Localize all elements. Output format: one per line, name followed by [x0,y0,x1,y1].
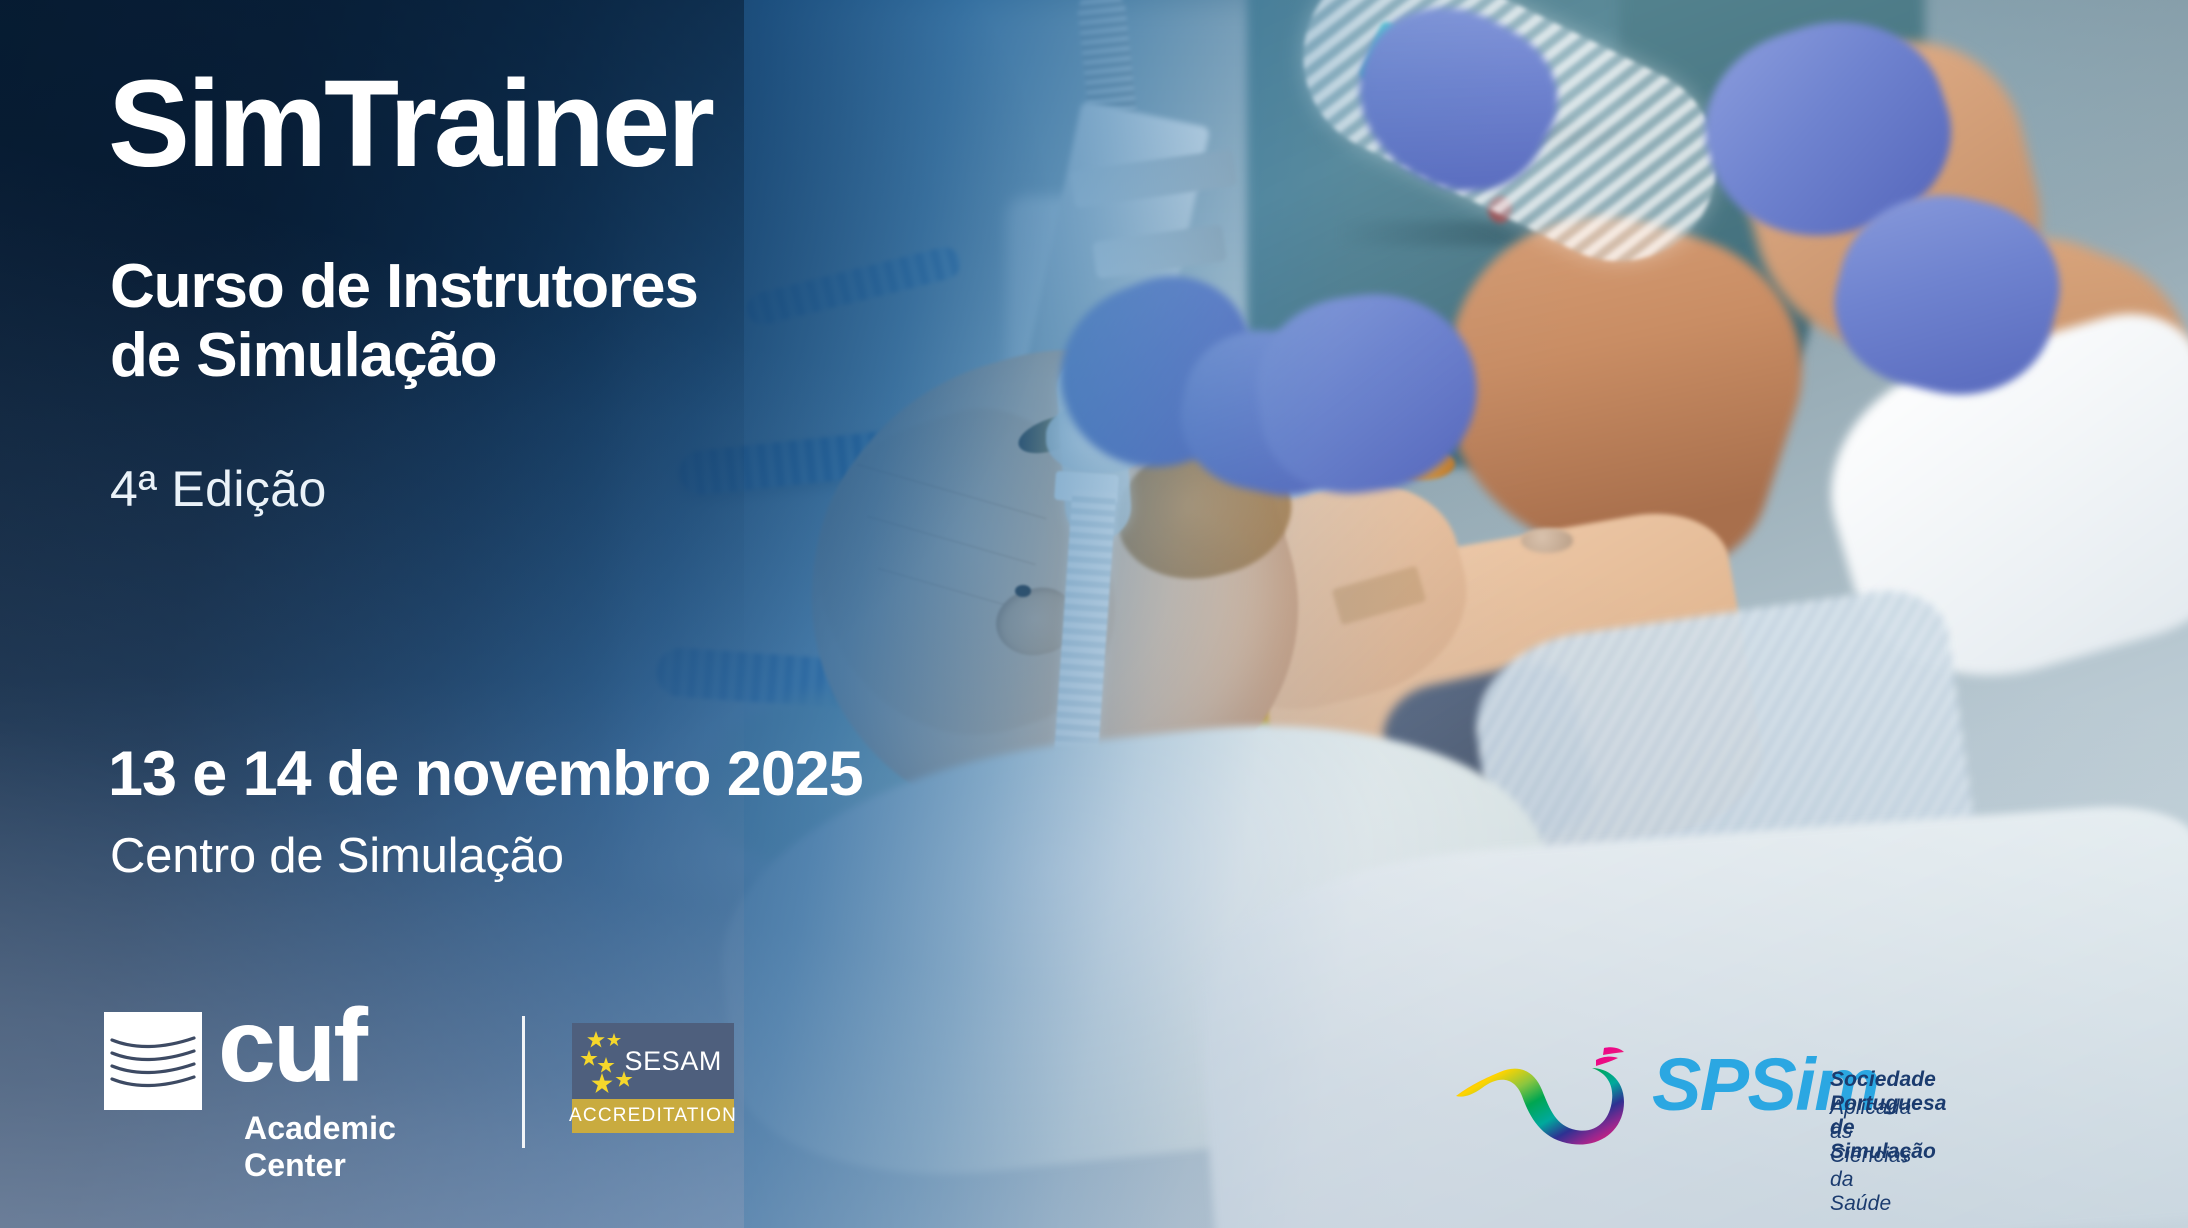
event-subtitle-line-1: Curso de Instrutores [110,252,698,321]
simtrainer-promo-banner: SimTrainer Curso de Instrutores de Simul… [0,0,2188,1228]
logo-divider [522,1016,525,1148]
event-subtitle: Curso de Instrutores de Simulação [110,252,698,391]
cuf-waves-square-icon [104,1012,202,1110]
event-venue: Centro de Simulação [110,828,564,884]
banner-content: SimTrainer Curso de Instrutores de Simul… [0,0,2188,1228]
sesam-badge-header: SESAM [572,1023,734,1099]
sesam-accreditation-label: ACCREDITATION [569,1105,737,1127]
sesam-accreditation-badge: SESAM ACCREDITATION [572,1023,734,1133]
cuf-wordmark: cuf [218,994,365,1098]
sesam-badge-footer: ACCREDITATION [572,1099,734,1133]
event-date: 13 e 14 de novembro 2025 [108,738,863,810]
event-edition: 4ª Edição [110,460,327,518]
cuf-tagline: Academic Center [244,1110,396,1184]
spsim-swoosh-icon [1452,1044,1652,1154]
eu-stars-icon [580,1029,650,1095]
event-subtitle-line-2: de Simulação [110,321,698,390]
spsim-tagline-line-2: Aplicada às Ciências da Saúde [1830,1096,1911,1216]
event-title: SimTrainer [108,62,712,187]
